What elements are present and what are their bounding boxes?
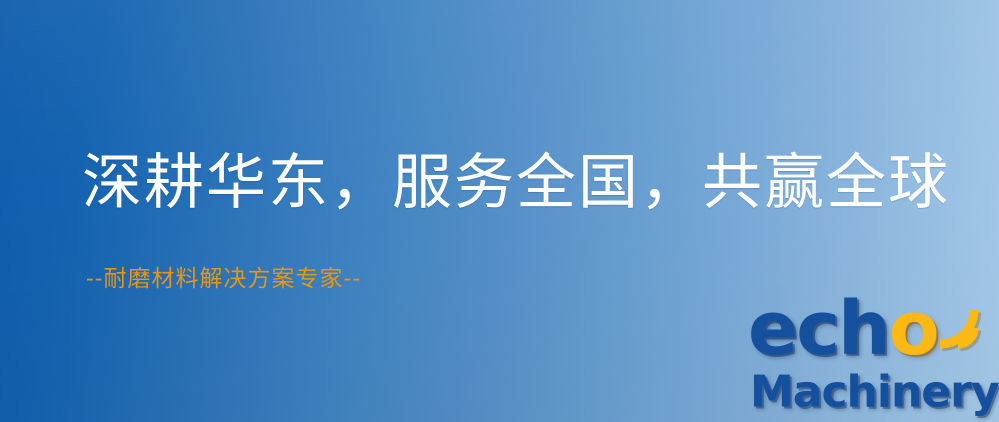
- banner-headline: 深耕华东，服务全国，共赢全球: [82, 152, 950, 215]
- banner-subtitle: --耐磨材料解决方案专家--: [86, 266, 361, 294]
- logo-wordmark: echo: [748, 292, 938, 366]
- wifi-arcs-icon: [934, 288, 999, 358]
- company-logo[interactable]: echo Machinery®: [742, 292, 999, 422]
- logo-subtext-label: Machinery: [750, 367, 999, 418]
- hero-banner: 深耕华东，服务全国，共赢全球 --耐磨材料解决方案专家-- echo Machi…: [0, 0, 999, 422]
- logo-subtext: Machinery®: [750, 360, 999, 417]
